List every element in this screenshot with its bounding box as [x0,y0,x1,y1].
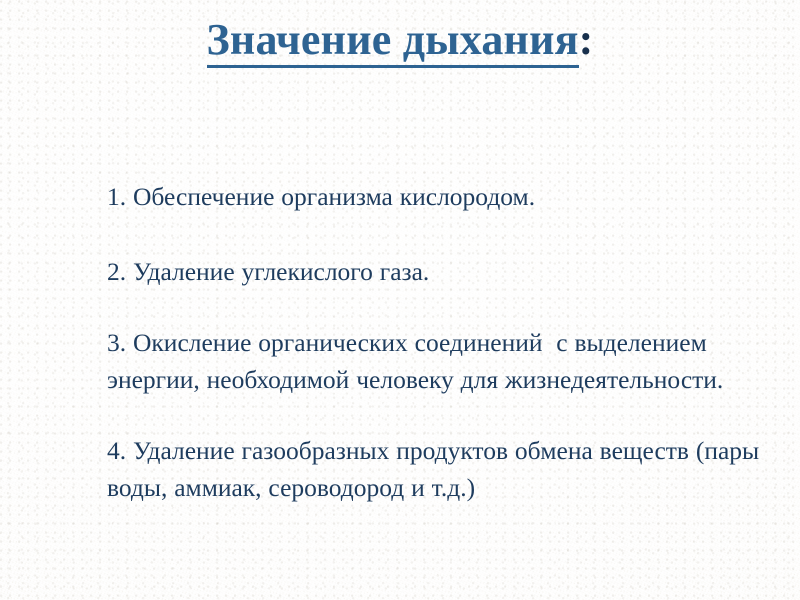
slide-title-area: Значение дыхания: [0,16,800,64]
page-title-text: Значение дыхания [207,15,579,68]
slide-body-list: 1. Обеспечение организма кислородом. 2. … [107,152,779,506]
page-title: Значение дыхания: [207,16,594,64]
presentation-slide: Значение дыхания: 1. Обеспечение организ… [0,0,800,600]
list-item: 3. Окисление органических соединений с в… [107,324,779,398]
page-title-colon: : [579,15,594,64]
list-item: 4. Удаление газообразных продуктов обмен… [107,432,779,506]
list-item: 1. Обеспечение организма кислородом. [107,178,779,215]
list-item: 2. Удаление углекислого газа. [107,253,779,290]
